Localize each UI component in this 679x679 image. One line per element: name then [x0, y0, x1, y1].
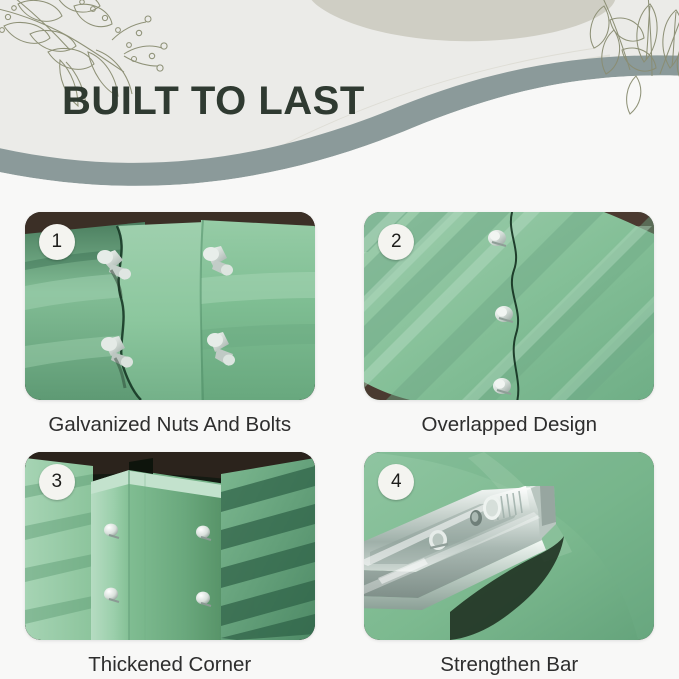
page-title: BUILT TO LAST — [62, 81, 365, 121]
screw-2 — [495, 306, 513, 322]
rivet-icon — [104, 523, 118, 536]
step-number-badge: 2 — [378, 224, 414, 260]
feature-caption: Strengthen Bar — [440, 654, 578, 677]
infographic-page: BUILT TO LAST — [0, 0, 679, 679]
feature-caption: Overlapped Design — [422, 414, 598, 437]
rivet-icon — [196, 525, 210, 538]
thickened-corner-photo: 3 — [25, 452, 315, 640]
feature-caption: Galvanized Nuts And Bolts — [48, 414, 291, 437]
feature-grid: 1 Galvanized Nuts And Bolts — [0, 200, 679, 679]
rivet-icon — [196, 591, 210, 604]
strengthen-bar-photo: 4 — [364, 452, 654, 640]
overlapped-design-photo: 2 — [364, 212, 654, 400]
feature-caption: Thickened Corner — [88, 654, 251, 677]
step-number-badge: 4 — [378, 464, 414, 500]
screw-1 — [488, 230, 506, 246]
feature-card-2[interactable]: 2 Overlapped Design — [340, 200, 679, 440]
screw-3 — [493, 378, 511, 394]
step-number-badge: 1 — [39, 224, 75, 260]
feature-card-1[interactable]: 1 Galvanized Nuts And Bolts — [0, 200, 340, 440]
galvanized-nuts-and-bolts-photo: 1 — [25, 212, 315, 400]
step-number-badge: 3 — [39, 464, 75, 500]
feature-card-4[interactable]: 4 Strengthen Bar — [340, 440, 679, 679]
rivet-icon — [104, 587, 118, 600]
feature-card-3[interactable]: 3 Thickened Corner — [0, 440, 340, 679]
header-banner: BUILT TO LAST — [0, 0, 679, 200]
